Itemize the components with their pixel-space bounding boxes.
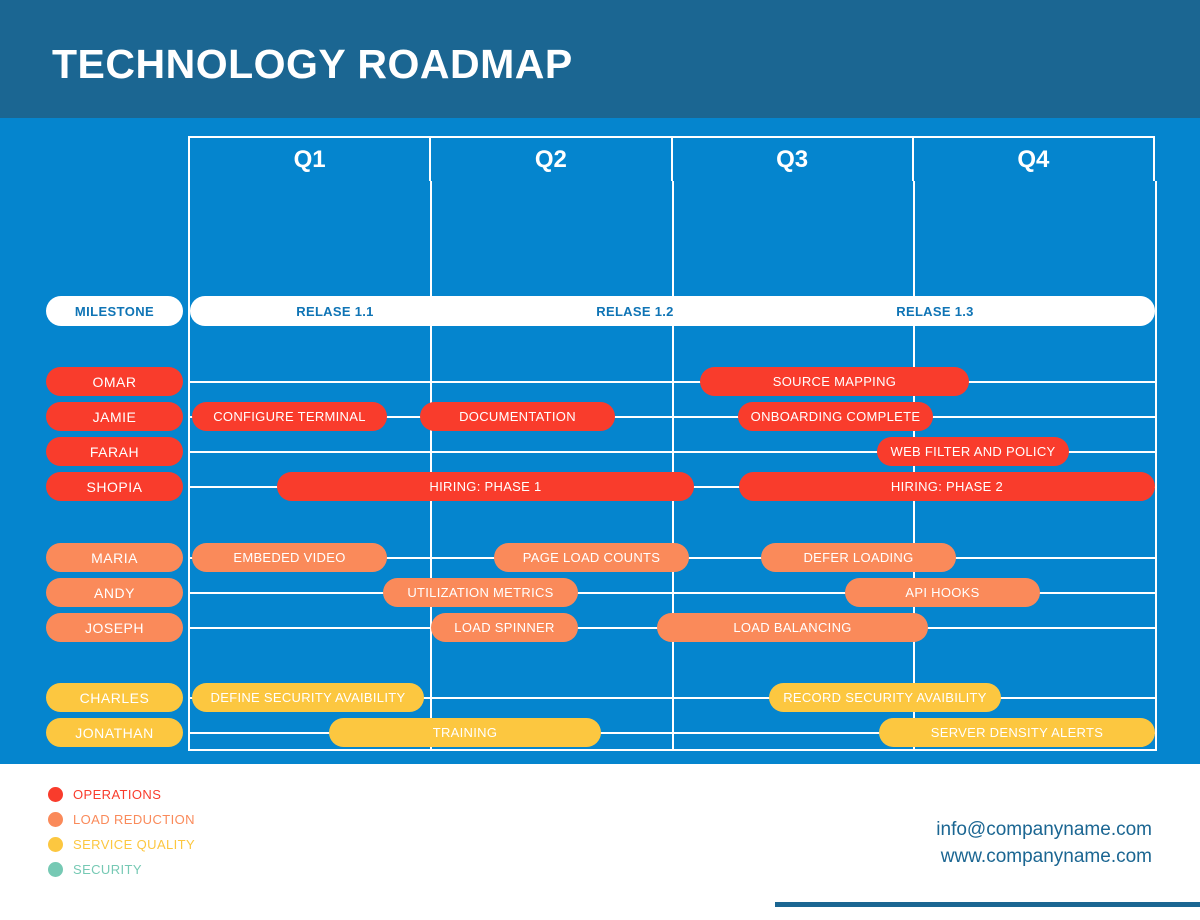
legend-dot-icon [48,862,63,877]
page-header: TECHNOLOGY ROADMAP [0,0,1200,118]
task-bar[interactable]: EMBEDED VIDEO [192,543,387,572]
task-bar[interactable]: LOAD SPINNER [431,613,578,642]
task-bar[interactable]: DEFINE SECURITY AVAIBILITY [192,683,424,712]
owner-pill-charles[interactable]: CHARLES [46,683,183,712]
roadmap-page: TECHNOLOGY ROADMAP Q1Q2Q3Q4 MILESTONE RE… [0,0,1200,920]
contact-website[interactable]: www.companyname.com [936,843,1152,870]
legend-item[interactable]: OPERATIONS [48,782,195,807]
task-bar[interactable]: SOURCE MAPPING [700,367,969,396]
quarter-header-q1: Q1 [188,136,429,181]
legend-dot-icon [48,812,63,827]
legend-item[interactable]: SECURITY [48,857,195,882]
legend-label: OPERATIONS [73,787,161,802]
quarter-header-q3: Q3 [671,136,912,181]
milestone-bar: RELASE 1.1RELASE 1.2RELASE 1.3 [190,296,1155,326]
milestone-release-label: RELASE 1.1 [190,296,480,326]
task-bar[interactable]: ONBOARDING COMPLETE [738,402,933,431]
contact-email[interactable]: info@companyname.com [936,816,1152,843]
grid-bottom-line [188,749,1155,751]
task-bar[interactable]: API HOOKS [845,578,1040,607]
milestone-release-label: RELASE 1.3 [790,296,1080,326]
quarter-header-row: Q1Q2Q3Q4 [188,136,1155,181]
task-bar[interactable]: SERVER DENSITY ALERTS [879,718,1155,747]
grid-vline-4 [1155,181,1157,751]
task-bar[interactable]: WEB FILTER AND POLICY [877,437,1069,466]
owner-pill-andy[interactable]: ANDY [46,578,183,607]
row-line [188,381,1155,383]
task-bar[interactable]: HIRING: PHASE 2 [739,472,1155,501]
grid-vline-1 [430,181,432,751]
legend-label: SERVICE QUALITY [73,837,195,852]
grid-vline-2 [672,181,674,751]
page-title: TECHNOLOGY ROADMAP [52,41,573,88]
owner-pill-jamie[interactable]: JAMIE [46,402,183,431]
legend: OPERATIONSLOAD REDUCTIONSERVICE QUALITYS… [48,782,195,882]
task-bar[interactable]: HIRING: PHASE 1 [277,472,694,501]
legend-item[interactable]: LOAD REDUCTION [48,807,195,832]
grid-vline-0 [188,181,190,751]
legend-item[interactable]: SERVICE QUALITY [48,832,195,857]
legend-dot-icon [48,787,63,802]
task-bar[interactable]: CONFIGURE TERMINAL [192,402,387,431]
task-bar[interactable]: DOCUMENTATION [420,402,615,431]
milestone-release-label: RELASE 1.2 [490,296,780,326]
owner-pill-jonathan[interactable]: JONATHAN [46,718,183,747]
quarter-header-q4: Q4 [912,136,1155,181]
task-bar[interactable]: UTILIZATION METRICS [383,578,578,607]
owner-pill-shopia[interactable]: SHOPIA [46,472,183,501]
legend-label: SECURITY [73,862,142,877]
legend-label: LOAD REDUCTION [73,812,195,827]
legend-dot-icon [48,837,63,852]
owner-pill-maria[interactable]: MARIA [46,543,183,572]
page-footer: OPERATIONSLOAD REDUCTIONSERVICE QUALITYS… [0,764,1200,920]
footer-rule [775,902,1200,907]
quarter-header-q2: Q2 [429,136,670,181]
owner-pill-joseph[interactable]: JOSEPH [46,613,183,642]
contact-info: info@companyname.com www.companyname.com [936,816,1152,870]
milestone-row-label: MILESTONE [46,296,183,326]
owner-pill-farah[interactable]: FARAH [46,437,183,466]
owner-pill-omar[interactable]: OMAR [46,367,183,396]
task-bar[interactable]: RECORD SECURITY AVAIBILITY [769,683,1001,712]
roadmap-chart: Q1Q2Q3Q4 MILESTONE RELASE 1.1RELASE 1.2R… [0,118,1200,764]
grid-vline-3 [913,181,915,751]
task-bar[interactable]: LOAD BALANCING [657,613,928,642]
task-bar[interactable]: DEFER LOADING [761,543,956,572]
task-bar[interactable]: TRAINING [329,718,601,747]
task-bar[interactable]: PAGE LOAD COUNTS [494,543,689,572]
